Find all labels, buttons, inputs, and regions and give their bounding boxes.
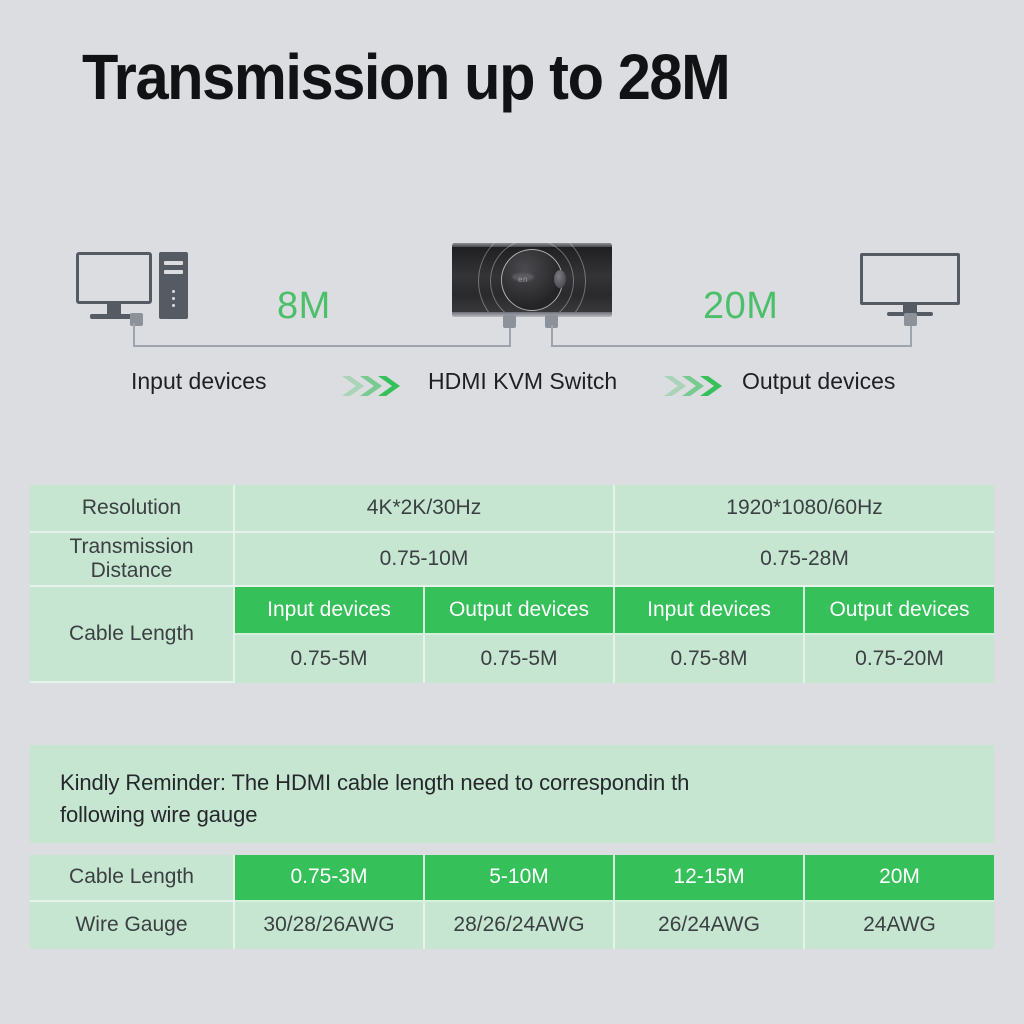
header-output-devices-2: Output devices xyxy=(805,587,994,635)
cable-segment xyxy=(910,323,912,347)
cell-distance-28m: 0.75-28M xyxy=(615,533,994,587)
header-input-devices-1: Input devices xyxy=(235,587,425,635)
header-input-devices-2: Input devices xyxy=(615,587,805,635)
caption-output-devices: Output devices xyxy=(742,368,895,395)
cell-cable-output-1: 0.75-5M xyxy=(425,635,615,683)
cable-segment xyxy=(133,323,135,347)
tv-neck xyxy=(903,305,917,312)
row-label-cable-length: Cable Length xyxy=(30,587,235,683)
specification-table: Resolution 4K*2K/30Hz 1920*1080/60Hz Tra… xyxy=(30,485,994,683)
kvm-bottom-edge xyxy=(452,312,612,317)
cable-segment xyxy=(551,345,911,347)
hdmi-kvm-switch-icon: en xyxy=(452,243,612,323)
cell-gauge-3: 26/24AWG xyxy=(615,902,805,949)
cable-connector-output xyxy=(904,313,917,326)
chevron-arrows-right-icon xyxy=(340,373,412,399)
cell-resolution-4k: 4K*2K/30Hz xyxy=(235,485,615,533)
cell-cable-input-1: 0.75-5M xyxy=(235,635,425,683)
infographic-page: Transmission up to 28M en xyxy=(0,0,1024,1024)
reminder-line-2: following wire gauge xyxy=(60,799,964,831)
monitor-neck xyxy=(107,304,121,314)
tv-screen xyxy=(860,253,960,305)
cell-distance-10m: 0.75-10M xyxy=(235,533,615,587)
cable-segment xyxy=(133,345,510,347)
cable-connector-input xyxy=(130,313,143,326)
table-row-cable-length-headers: Cable Length Input devices Output device… xyxy=(30,587,994,635)
row-label-cable-length: Cable Length xyxy=(30,855,235,902)
cell-length-1: 0.75-3M xyxy=(235,855,425,902)
label-line-1: Transmission xyxy=(69,535,193,558)
tower-dot xyxy=(172,297,175,300)
tower-slot xyxy=(164,270,183,274)
cable-connector-switch-in xyxy=(503,315,516,328)
cable-segment xyxy=(509,325,511,347)
row-label-wire-gauge: Wire Gauge xyxy=(30,902,235,949)
caption-input-devices: Input devices xyxy=(131,368,267,395)
tower-dot xyxy=(172,290,175,293)
distance-label-output: 20M xyxy=(703,285,778,328)
table-row-wire-gauge: Wire Gauge 30/28/26AWG 28/26/24AWG 26/24… xyxy=(30,902,994,949)
table-row-resolution: Resolution 4K*2K/30Hz 1920*1080/60Hz xyxy=(30,485,994,533)
chevron-arrows-right-icon xyxy=(662,373,734,399)
kindly-reminder-block: Kindly Reminder: The HDMI cable length n… xyxy=(30,745,994,843)
reminder-line-1: Kindly Reminder: The HDMI cable length n… xyxy=(60,767,964,799)
label-line-2: Distance xyxy=(91,559,173,582)
monitor-screen xyxy=(76,252,152,304)
row-label-resolution: Resolution xyxy=(30,485,235,533)
kvm-side-button xyxy=(554,270,566,288)
cell-cable-input-2: 0.75-8M xyxy=(615,635,805,683)
cell-length-3: 12-15M xyxy=(615,855,805,902)
tv-monitor-icon xyxy=(860,253,960,319)
cell-gauge-1: 30/28/26AWG xyxy=(235,902,425,949)
diagram-caption-row: Input devices HDMI KVM Switch Output dev… xyxy=(0,368,1024,404)
page-title: Transmission up to 28M xyxy=(82,40,919,114)
pc-tower-icon xyxy=(159,252,188,319)
kvm-body: en xyxy=(452,243,612,317)
tower-slot xyxy=(164,261,183,265)
table-row-transmission-distance: Transmission Distance 0.75-10M 0.75-28M xyxy=(30,533,994,587)
cell-cable-output-2: 0.75-20M xyxy=(805,635,994,683)
cell-gauge-4: 24AWG xyxy=(805,902,994,949)
cell-resolution-1080p: 1920*1080/60Hz xyxy=(615,485,994,533)
distance-label-input: 8M xyxy=(277,285,331,328)
row-label-transmission-distance: Transmission Distance xyxy=(30,533,235,587)
cell-length-2: 5-10M xyxy=(425,855,615,902)
cell-gauge-2: 28/26/24AWG xyxy=(425,902,615,949)
cell-length-4: 20M xyxy=(805,855,994,902)
cable-segment xyxy=(551,325,553,347)
header-output-devices-1: Output devices xyxy=(425,587,615,635)
table-row-cable-length: Cable Length 0.75-3M 5-10M 12-15M 20M xyxy=(30,855,994,902)
wire-gauge-table: Cable Length 0.75-3M 5-10M 12-15M 20M Wi… xyxy=(30,855,994,949)
tower-dot xyxy=(172,304,175,307)
caption-hdmi-kvm-switch: HDMI KVM Switch xyxy=(428,368,617,395)
kvm-logo: en xyxy=(518,275,528,284)
